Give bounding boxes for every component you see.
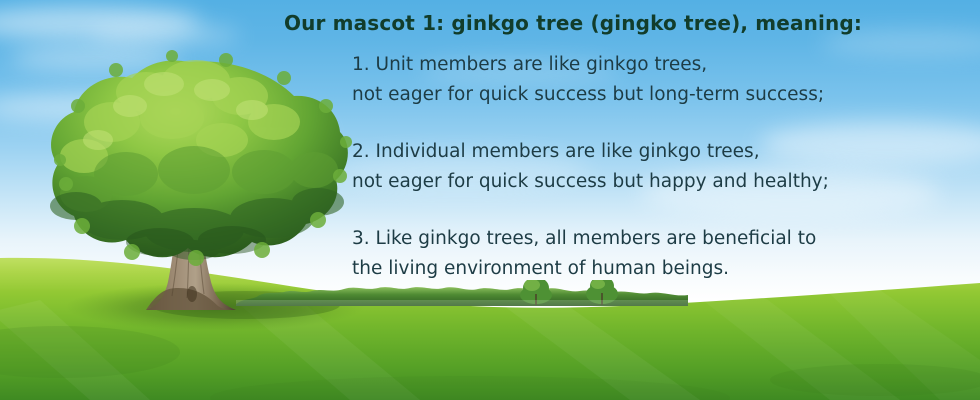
meaning-paragraph-1-line-2: not eager for quick success but long-ter… <box>352 80 952 110</box>
meaning-paragraph-1-line-1: 1. Unit members are like ginkgo trees, <box>352 50 952 80</box>
mascot-banner: Our mascot 1: ginkgo tree (gingko tree),… <box>0 0 980 400</box>
meaning-paragraph-2-line-2: not eager for quick success but happy an… <box>352 167 952 197</box>
ginkgo-tree-illustration <box>26 44 356 334</box>
page-title: Our mascot 1: ginkgo tree (gingko tree),… <box>284 11 862 35</box>
meaning-paragraph-2-line-1: 2. Individual members are like ginkgo tr… <box>352 137 952 167</box>
meaning-paragraph-1: 1. Unit members are like ginkgo trees, n… <box>352 50 952 110</box>
meaning-paragraph-2: 2. Individual members are like ginkgo tr… <box>352 137 952 197</box>
meaning-paragraph-3: 3. Like ginkgo trees, all members are be… <box>352 224 952 284</box>
meaning-paragraph-3-line-1: 3. Like ginkgo trees, all members are be… <box>352 224 952 254</box>
meaning-paragraph-3-line-2: the living environment of human beings. <box>352 254 952 284</box>
